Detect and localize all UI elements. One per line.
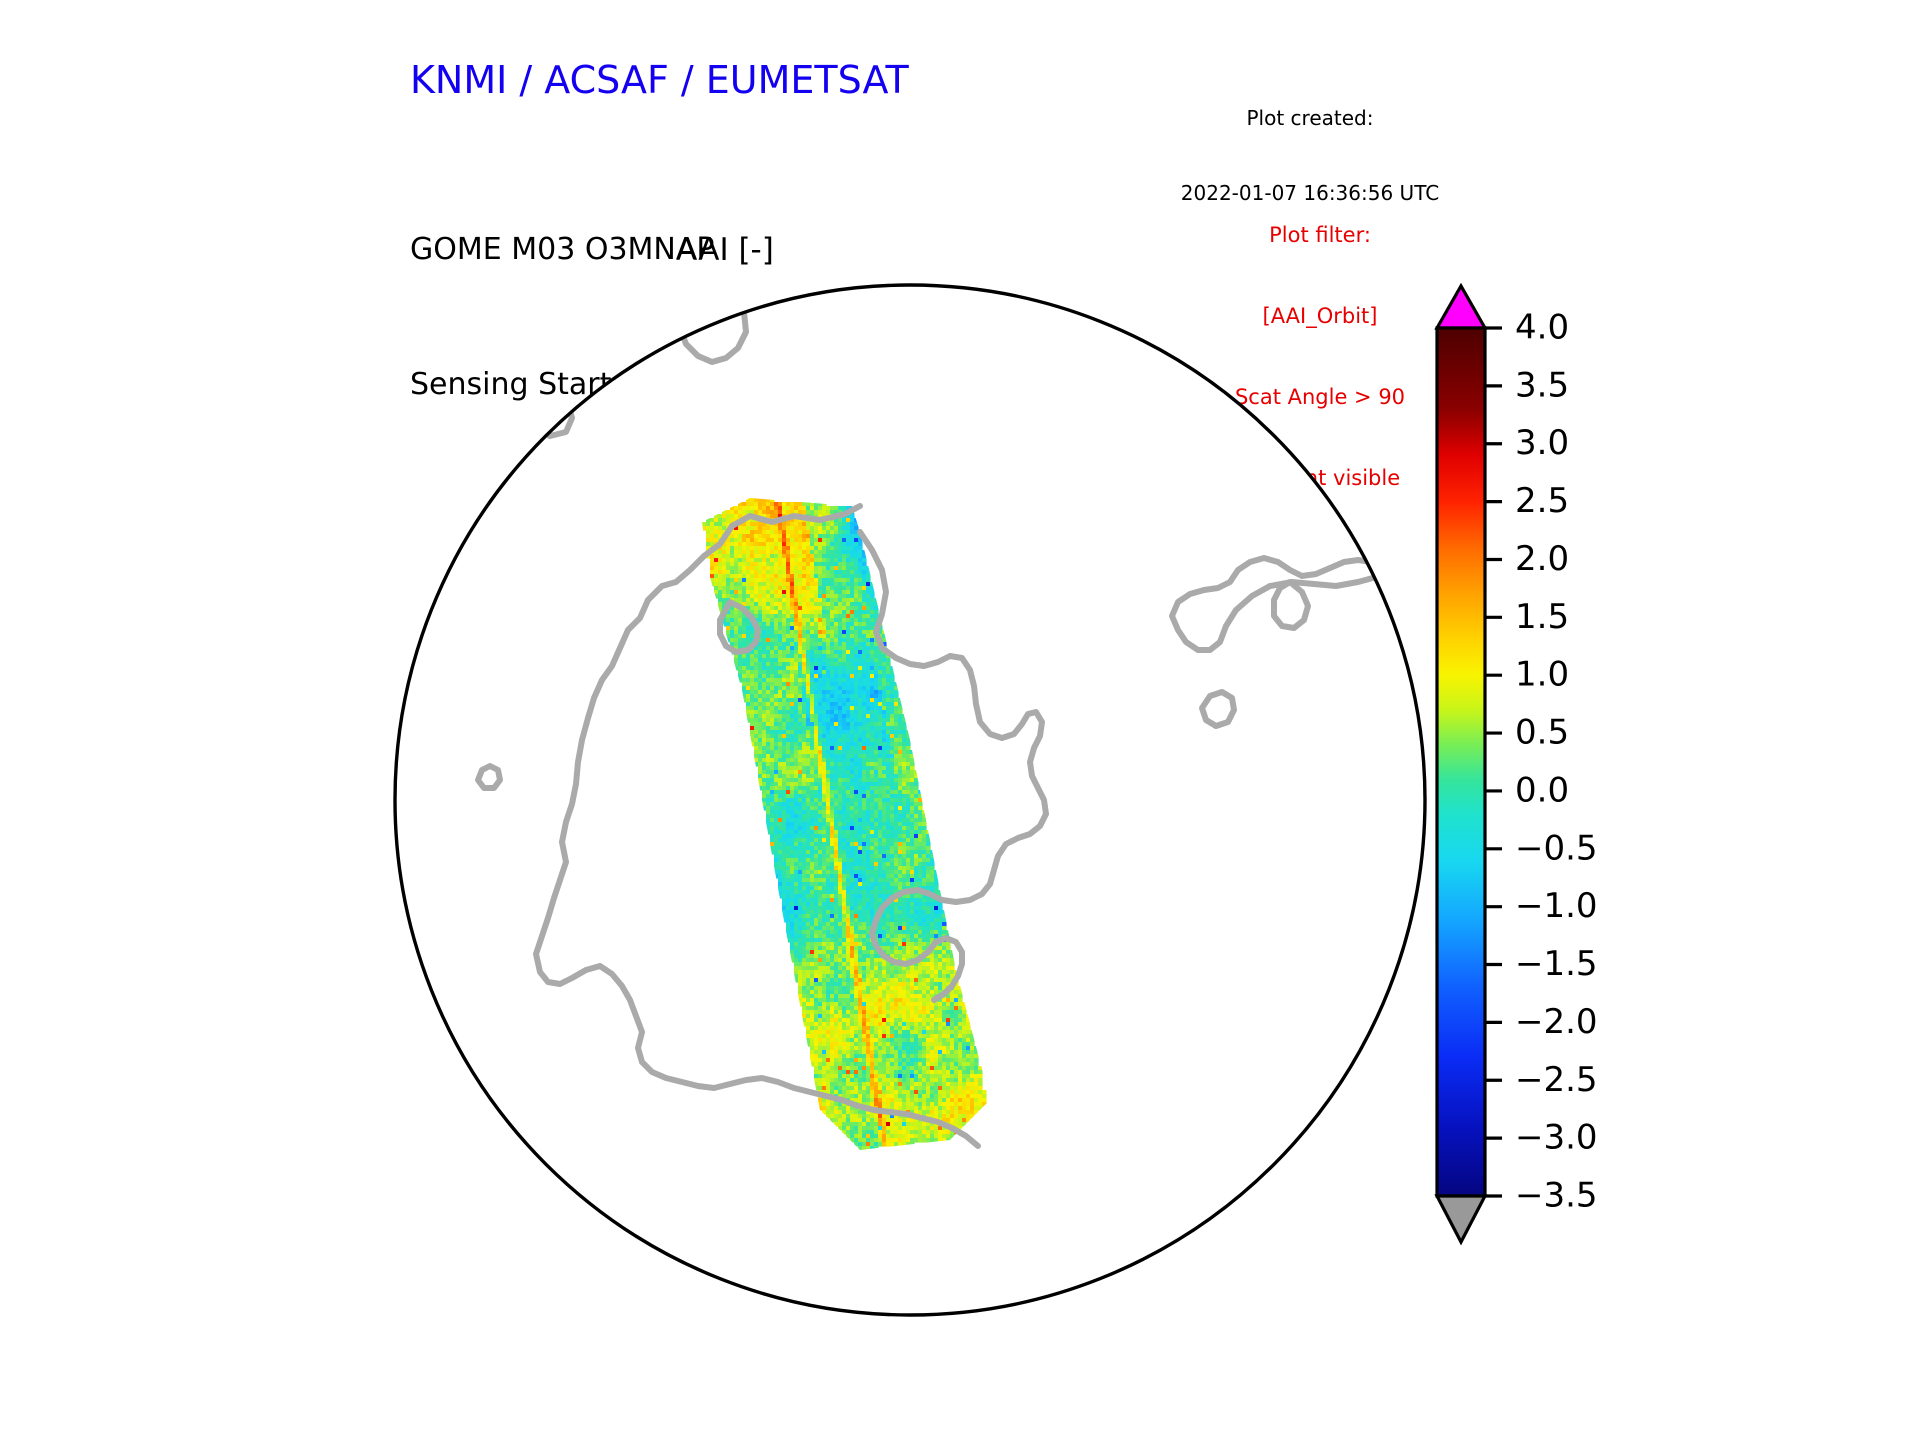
swath-cell (830, 898, 835, 903)
swath-cell (862, 682, 867, 687)
swath-cell (846, 534, 851, 539)
swath-cell (738, 622, 743, 627)
swath-cell (810, 858, 815, 863)
swath-cell (770, 558, 775, 563)
swath-cell (882, 726, 887, 731)
swath-cell (854, 786, 859, 791)
swath-cell (790, 782, 795, 787)
swath-cell (810, 822, 815, 827)
swath-cell (910, 902, 915, 907)
swath-cell (782, 674, 787, 679)
swath-cell (798, 838, 803, 843)
swath-cell (826, 890, 831, 895)
swath-cell (726, 546, 731, 551)
swath-cell (854, 842, 859, 847)
swath-cell (770, 626, 775, 631)
swath-cell (870, 830, 875, 835)
swath-cell (902, 730, 907, 735)
swath-cell (778, 874, 783, 879)
swath-cell (766, 818, 771, 823)
swath-cell (802, 902, 807, 907)
swath-cell (826, 538, 831, 543)
swath-cell (866, 786, 871, 791)
swath-cell (886, 790, 891, 795)
swath-cell (770, 582, 775, 587)
swath-cell (822, 726, 827, 731)
swath-cell (834, 554, 839, 559)
swath-cell (802, 626, 807, 631)
swath-cell (786, 598, 791, 603)
swath-cell (810, 794, 815, 799)
swath-cell (834, 1002, 839, 1007)
swath-cell (890, 866, 895, 871)
swath-cell (750, 698, 755, 703)
swath-cell (926, 898, 931, 903)
swath-cell (774, 806, 779, 811)
swath-cell (846, 762, 851, 767)
swath-cell (922, 898, 927, 903)
swath-cell (770, 838, 775, 843)
swath-cell (810, 902, 815, 907)
swath-cell (826, 962, 831, 967)
swath-cell (762, 610, 767, 615)
swath-cell (758, 586, 763, 591)
swath-cell (858, 754, 863, 759)
swath-cell (830, 682, 835, 687)
swath-cell (878, 890, 883, 895)
swath-cell (762, 598, 767, 603)
swath-cell (850, 774, 855, 779)
swath-cell (818, 830, 823, 835)
swath-cell (882, 830, 887, 835)
swath-cell (894, 838, 899, 843)
swath-cell (834, 930, 839, 935)
swath-cell (718, 582, 723, 587)
swath-cell (830, 654, 835, 659)
swath-cell (766, 794, 771, 799)
swath-cell (822, 798, 827, 803)
swath-cell (802, 574, 807, 579)
swath-cell (846, 610, 851, 615)
swath-cell (726, 586, 731, 591)
swath-cell (822, 670, 827, 675)
swath-cell (810, 690, 815, 695)
swath-cell (870, 910, 875, 915)
swath-cell (910, 982, 915, 987)
swath-cell (922, 974, 927, 979)
swath-cell (898, 930, 903, 935)
swath-cell (790, 810, 795, 815)
swath-cell (838, 854, 843, 859)
swath-cell (734, 554, 739, 559)
swath-cell (854, 962, 859, 967)
swath-cell (870, 870, 875, 875)
swath-cell (870, 958, 875, 963)
swath-cell (822, 938, 827, 943)
swath-cell (902, 798, 907, 803)
swath-cell (786, 842, 791, 847)
swath-cell (746, 698, 751, 703)
swath-cell (826, 570, 831, 575)
swath-cell (822, 690, 827, 695)
swath-cell (826, 830, 831, 835)
swath-cell (870, 802, 875, 807)
swath-cell (806, 862, 811, 867)
swath-cell (766, 550, 771, 555)
swath-cell (858, 662, 863, 667)
swath-cell (790, 946, 795, 951)
swath-cell (822, 718, 827, 723)
swath-cell (758, 658, 763, 663)
swath-cell (894, 690, 899, 695)
swath-cell (818, 538, 823, 543)
swath-cell (778, 646, 783, 651)
swath-cell (774, 794, 779, 799)
swath-cell (766, 646, 771, 651)
swath-cell (902, 774, 907, 779)
swath-cell (822, 810, 827, 815)
swath-cell (790, 610, 795, 615)
swath-cell (886, 826, 891, 831)
swath-cell (778, 602, 783, 607)
swath-cell (922, 902, 927, 907)
swath-cell (866, 762, 871, 767)
swath-cell (854, 858, 859, 863)
swath-cell (782, 606, 787, 611)
swath-cell (790, 834, 795, 839)
swath-cell (810, 710, 815, 715)
swath-cell (902, 934, 907, 939)
swath-cell (822, 774, 827, 779)
swath-cell (738, 590, 743, 595)
swath-cell (766, 586, 771, 591)
swath-cell (890, 694, 895, 699)
swath-cell (870, 858, 875, 863)
swath-cell (818, 602, 823, 607)
swath-cell (878, 842, 883, 847)
swath-cell (822, 534, 827, 539)
swath-cell (886, 822, 891, 827)
swath-cell (770, 666, 775, 671)
swath-cell (818, 834, 823, 839)
swath-cell (766, 526, 771, 531)
swath-cell (818, 694, 823, 699)
swath-cell (846, 950, 851, 955)
swath-cell (838, 926, 843, 931)
swath-cell (726, 582, 731, 587)
swath-cell (822, 742, 827, 747)
swath-cell (814, 574, 819, 579)
swath-cell (794, 822, 799, 827)
swath-cell (738, 574, 743, 579)
swath-cell (882, 754, 887, 759)
swath-cell (810, 686, 815, 691)
swath-cell (870, 654, 875, 659)
swath-cell (870, 834, 875, 839)
swath-cell (774, 774, 779, 779)
swath-cell (846, 754, 851, 759)
swath-cell (842, 674, 847, 679)
swath-cell (902, 910, 907, 915)
swath-cell (774, 746, 779, 751)
swath-cell (766, 666, 771, 671)
swath-cell (802, 594, 807, 599)
swath-cell (886, 742, 891, 747)
swath-cell (818, 646, 823, 651)
swath-cell (730, 630, 735, 635)
swath-cell (862, 702, 867, 707)
swath-cell (794, 954, 799, 959)
swath-cell (794, 830, 799, 835)
swath-cell (850, 946, 855, 951)
swath-cell (846, 898, 851, 903)
swath-cell (834, 678, 839, 683)
swath-cell (862, 918, 867, 923)
swath-cell (886, 842, 891, 847)
swath-cell (850, 582, 855, 587)
swath-cell (882, 938, 887, 943)
swath-cell (810, 618, 815, 623)
swath-cell (774, 506, 779, 511)
swath-cell (814, 998, 819, 1003)
swath-cell (826, 726, 831, 731)
swath-cell (878, 814, 883, 819)
swath-cell (814, 614, 819, 619)
swath-cell (842, 726, 847, 731)
swath-cell (842, 802, 847, 807)
swath-cell (830, 598, 835, 603)
swath-cell (758, 678, 763, 683)
swath-cell (926, 914, 931, 919)
swath-cell (842, 710, 847, 715)
swath-cell (886, 762, 891, 767)
swath-cell (826, 710, 831, 715)
swath-cell (874, 894, 879, 899)
swath-cell (826, 882, 831, 887)
swath-cell (830, 770, 835, 775)
swath-cell (730, 622, 735, 627)
swath-cell (850, 966, 855, 971)
swath-cell (918, 974, 923, 979)
swath-cell (838, 734, 843, 739)
swath-cell (734, 610, 739, 615)
swath-cell (842, 906, 847, 911)
swath-cell (882, 750, 887, 755)
swath-cell (814, 930, 819, 935)
swath-cell (774, 706, 779, 711)
swath-cell (810, 934, 815, 939)
swath-cell (874, 730, 879, 735)
swath-cell (838, 598, 843, 603)
swath-cell (782, 678, 787, 683)
swath-cell (878, 898, 883, 903)
swath-cell (866, 790, 871, 795)
swath-cell (794, 526, 799, 531)
swath-cell (866, 678, 871, 683)
swath-cell (870, 878, 875, 883)
swath-cell (818, 682, 823, 687)
swath-cell (754, 546, 759, 551)
swath-cell (778, 662, 783, 667)
swath-cell (874, 958, 879, 963)
swath-cell (846, 602, 851, 607)
swath-cell (818, 846, 823, 851)
swath-cell (834, 958, 839, 963)
swath-cell (850, 566, 855, 571)
swath-cell (886, 666, 891, 671)
swath-cell (874, 986, 879, 991)
swath-cell (786, 754, 791, 759)
swath-cell (770, 698, 775, 703)
swath-cell (818, 690, 823, 695)
swath-cell (806, 802, 811, 807)
swath-cell (758, 686, 763, 691)
swath-cell (878, 782, 883, 787)
swath-cell (786, 734, 791, 739)
swath-cell (886, 942, 891, 947)
swath-cell (866, 834, 871, 839)
swath-cell (922, 834, 927, 839)
swath-cell (806, 850, 811, 855)
swath-cell (850, 962, 855, 967)
swath-cell (782, 690, 787, 695)
swath-cell (886, 814, 891, 819)
swath-cell (870, 846, 875, 851)
swath-cell (774, 558, 779, 563)
swath-cell (922, 830, 927, 835)
swath-cell (894, 726, 899, 731)
swath-cell (878, 734, 883, 739)
swath-cell (886, 806, 891, 811)
swath-cell (862, 770, 867, 775)
swath-cell (774, 790, 779, 795)
swath-cell (822, 954, 827, 959)
swath-cell (894, 710, 899, 715)
swath-cell (910, 770, 915, 775)
swath-cell (862, 626, 867, 631)
swath-cell (842, 854, 847, 859)
swath-cell (770, 554, 775, 559)
swath-cell (830, 790, 835, 795)
swath-cell (734, 626, 739, 631)
swath-cell (790, 630, 795, 635)
swath-cell (850, 694, 855, 699)
swath-cell (770, 706, 775, 711)
swath-cell (842, 562, 847, 567)
swath-cell (866, 862, 871, 867)
swath-cell (806, 674, 811, 679)
swath-cell (806, 798, 811, 803)
swath-cell (782, 506, 787, 511)
swath-cell (798, 590, 803, 595)
swath-cell (754, 566, 759, 571)
swath-cell (910, 766, 915, 771)
swath-cell (886, 922, 891, 927)
swath-cell (786, 850, 791, 855)
swath-cell (762, 790, 767, 795)
swath-cell (774, 810, 779, 815)
swath-cell (726, 630, 731, 635)
swath-cell (750, 662, 755, 667)
swath-cell (806, 690, 811, 695)
swath-cell (802, 938, 807, 943)
swath-cell (794, 874, 799, 879)
swath-cell (706, 534, 711, 539)
swath-cell (830, 538, 835, 543)
swath-cell (762, 578, 767, 583)
swath-cell (830, 970, 835, 975)
swath-cell (894, 874, 899, 879)
swath-cell (786, 602, 791, 607)
swath-cell (870, 766, 875, 771)
swath-cell (810, 970, 815, 975)
swath-cell (814, 994, 819, 999)
swath-cell (838, 766, 843, 771)
swath-cell (818, 878, 823, 883)
swath-cell (858, 558, 863, 563)
swath-cell (798, 898, 803, 903)
swath-cell (818, 886, 823, 891)
swath-cell (934, 926, 939, 931)
swath-cell (894, 698, 899, 703)
swath-cell (782, 866, 787, 871)
swath-cell (938, 950, 943, 955)
swath-cell (866, 730, 871, 735)
swath-cell (778, 762, 783, 767)
swath-cell (850, 578, 855, 583)
swath-cell (802, 778, 807, 783)
swath-cell (790, 694, 795, 699)
swath-cell (774, 674, 779, 679)
swath-cell (818, 614, 823, 619)
swath-cell (830, 646, 835, 651)
swath-cell (770, 710, 775, 715)
swath-cell (806, 686, 811, 691)
swath-cell (806, 906, 811, 911)
swath-cell (818, 654, 823, 659)
swath-cell (830, 550, 835, 555)
swath-cell (898, 874, 903, 879)
swath-cell (798, 934, 803, 939)
swath-cell (894, 770, 899, 775)
swath-cell (850, 514, 855, 519)
swath-cell (802, 782, 807, 787)
swath-cell (906, 874, 911, 879)
swath-cell (810, 634, 815, 639)
swath-cell (838, 574, 843, 579)
swath-cell (858, 718, 863, 723)
swath-cell (774, 634, 779, 639)
swath-cell (902, 878, 907, 883)
swath-cell (782, 814, 787, 819)
swath-cell (834, 630, 839, 635)
swath-cell (902, 778, 907, 783)
swath-cell (862, 638, 867, 643)
swath-cell (778, 774, 783, 779)
swath-cell (818, 582, 823, 587)
swath-cell (894, 774, 899, 779)
swath-cell (854, 958, 859, 963)
swath-cell (882, 850, 887, 855)
swath-cell (794, 802, 799, 807)
swath-cell (862, 874, 867, 879)
swath-cell (866, 782, 871, 787)
swath-cell (802, 954, 807, 959)
swath-cell (830, 622, 835, 627)
swath-cell (870, 606, 875, 611)
swath-cell (838, 806, 843, 811)
swath-cell (874, 858, 879, 863)
